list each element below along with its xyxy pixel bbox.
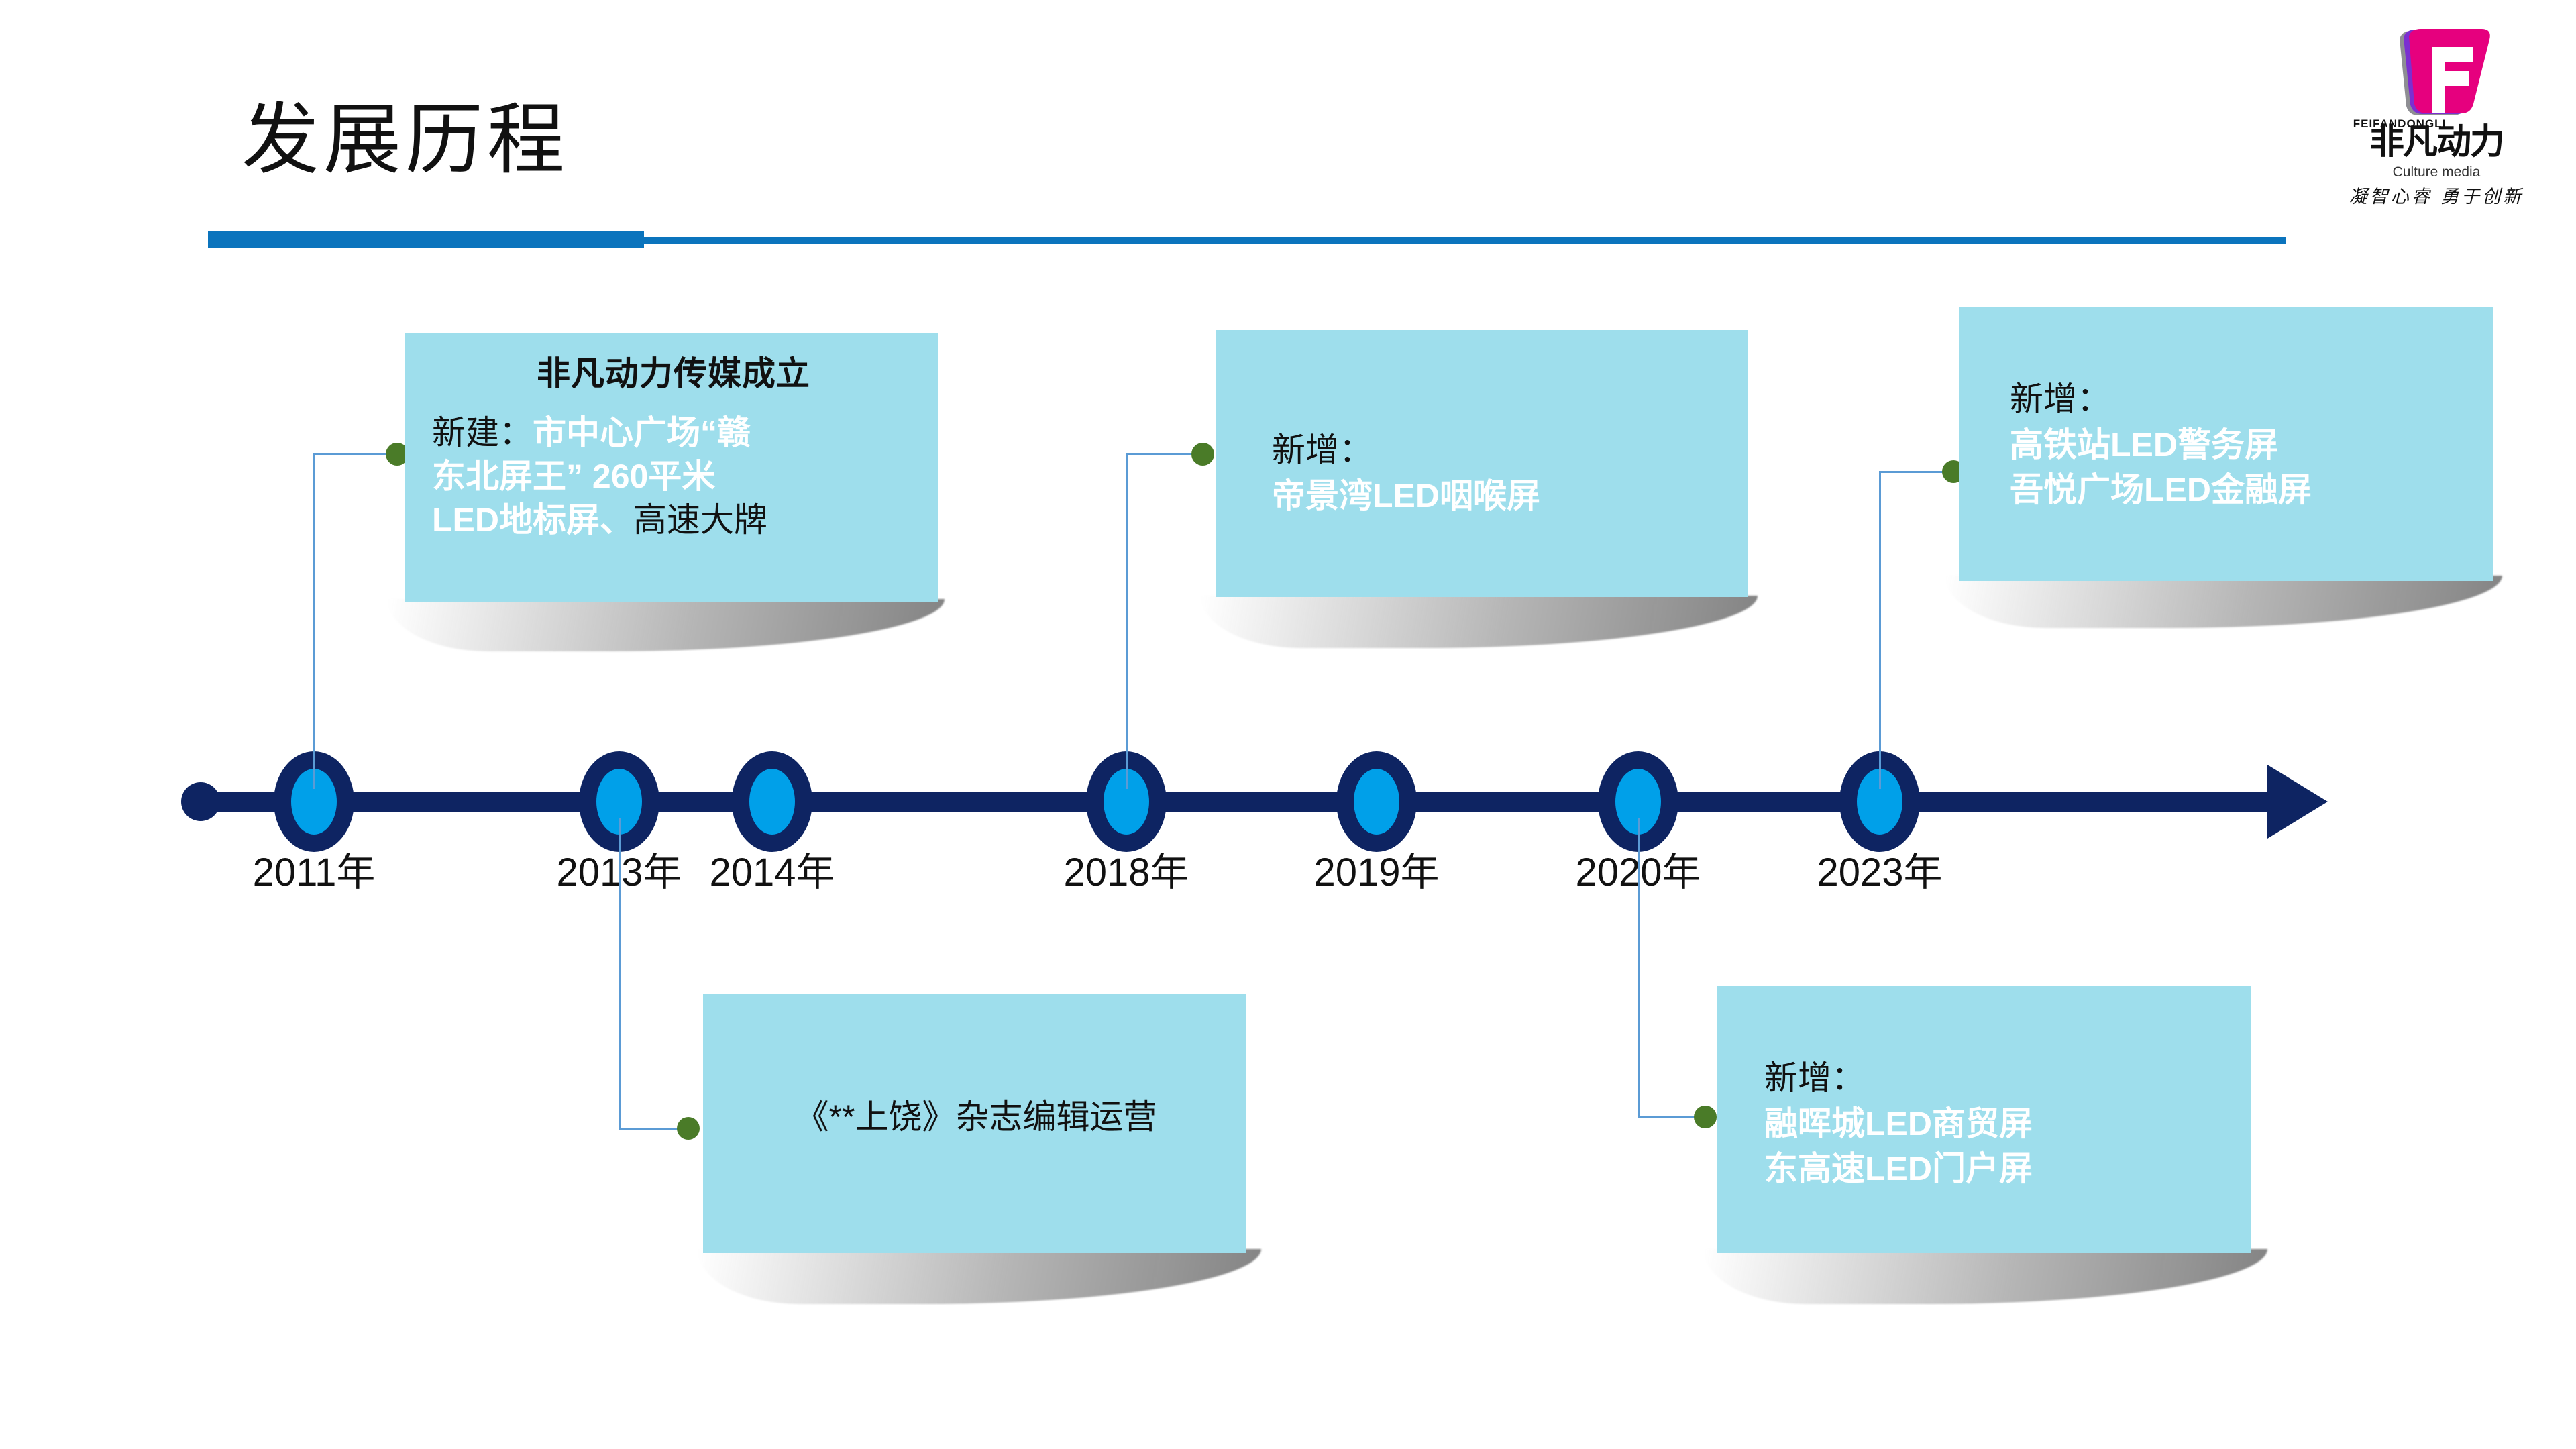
card-2014-text: 《**上饶》杂志编辑运营	[796, 1098, 1157, 1136]
logo-chinese-name: 非凡动力	[2343, 125, 2530, 160]
card-2014-shadow	[698, 1249, 1261, 1304]
timeline-year-2023: 2023年	[1817, 853, 1942, 892]
card-2018[interactable]: 新增： 帝景湾LED咽喉屏	[1216, 330, 1748, 597]
card-2023-shadow	[1945, 576, 2502, 628]
company-logo: FEIFANDONGLI 非凡动力 Culture media 凝智心睿 勇于创…	[2343, 27, 2530, 221]
connector-dot-2020	[1694, 1106, 1717, 1128]
card-2020-line1: 融晖城LED商贸屏	[1764, 1105, 2033, 1142]
card-2020-line2: 东高速LED门户屏	[1764, 1150, 2033, 1187]
connector-2011-horizontal	[313, 453, 396, 455]
connector-2011-vertical	[313, 453, 315, 789]
card-2011-title: 非凡动力传媒成立	[432, 356, 915, 392]
card-2020[interactable]: 新增： 融晖城LED商贸屏 东高速LED门户屏	[1717, 986, 2251, 1253]
timeline-year-2019: 2019年	[1313, 853, 1439, 892]
connector-2018-vertical	[1126, 453, 1128, 789]
logo-slogan: 凝智心睿 勇于创新	[2343, 188, 2530, 206]
slide-canvas: 发展历程 FEIFANDONGLI 非凡动力 Culture media 凝智心…	[0, 0, 2576, 1449]
timeline-arrow-head	[2267, 765, 2328, 839]
card-2018-lead: 新增：	[1272, 431, 1373, 469]
connector-2018-horizontal	[1126, 453, 1202, 455]
card-2011-shadow	[388, 599, 945, 651]
card-2023[interactable]: 新增： 高铁站LED警务屏 吾悦广场LED金融屏	[1959, 307, 2493, 581]
card-2018-shadow	[1201, 596, 1758, 648]
connector-2020-vertical	[1638, 818, 1640, 1118]
card-2014[interactable]: 《**上饶》杂志编辑运营	[703, 994, 1246, 1253]
timeline-year-2014: 2014年	[709, 853, 835, 892]
card-2011-line3: LED地标屏、	[432, 501, 633, 539]
connector-dot-2013	[677, 1117, 700, 1140]
card-2023-line2: 吾悦广场LED金融屏	[2010, 471, 2312, 508]
connector-dot-2018	[1191, 443, 1214, 466]
connector-2023-vertical	[1879, 471, 1881, 789]
card-2023-line1: 高铁站LED警务屏	[2010, 426, 2278, 464]
timeline-axis	[201, 792, 2308, 812]
card-2011-lead: 新建：	[432, 414, 533, 451]
logo-f-mark	[2379, 27, 2493, 121]
card-2011-line1: 市中心广场“赣	[533, 414, 751, 451]
card-2020-shadow	[1704, 1249, 2267, 1304]
page-title: 发展历程	[241, 101, 569, 178]
title-accent-bar	[208, 231, 644, 248]
logo-english-tagline: Culture media	[2343, 165, 2530, 179]
title-accent-line	[643, 237, 2286, 244]
timeline-year-2011: 2011年	[253, 853, 376, 892]
timeline-node-2014[interactable]	[732, 751, 812, 852]
card-2011-line2: 东北屏王” 260平米	[432, 458, 715, 495]
connector-2013-vertical	[619, 818, 621, 1129]
card-2018-line1: 帝景湾LED咽喉屏	[1272, 477, 1540, 515]
card-2011-line3-tail: 高速大牌	[633, 501, 767, 539]
card-2011[interactable]: 非凡动力传媒成立 新建：市中心广场“赣 东北屏王” 260平米 LED地标屏、高…	[405, 333, 938, 602]
timeline-year-2018: 2018年	[1063, 853, 1189, 892]
card-2020-lead: 新增：	[1764, 1059, 1865, 1097]
timeline-node-2019[interactable]	[1336, 751, 1417, 852]
card-2023-lead: 新增：	[2010, 380, 2110, 418]
